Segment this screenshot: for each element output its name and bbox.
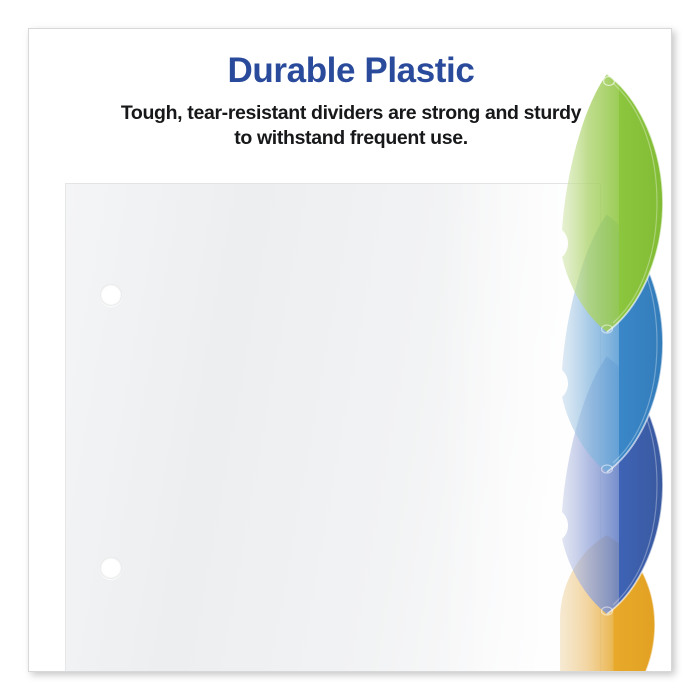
subtitle-line-2: to withstand frequent use. [51,126,651,151]
page-title: Durable Plastic [29,51,672,91]
sheet-highlight [66,184,600,672]
punch-hole-bottom [100,557,122,579]
divider-sheet [65,183,601,672]
page-subtitle: Tough, tear-resistant dividers are stron… [51,101,651,151]
punch-hole-top [100,284,122,306]
product-image-canvas: Durable Plastic Tough, tear-resistant di… [0,0,700,700]
subtitle-line-1: Tough, tear-resistant dividers are stron… [121,102,581,124]
product-card: Durable Plastic Tough, tear-resistant di… [28,28,672,672]
